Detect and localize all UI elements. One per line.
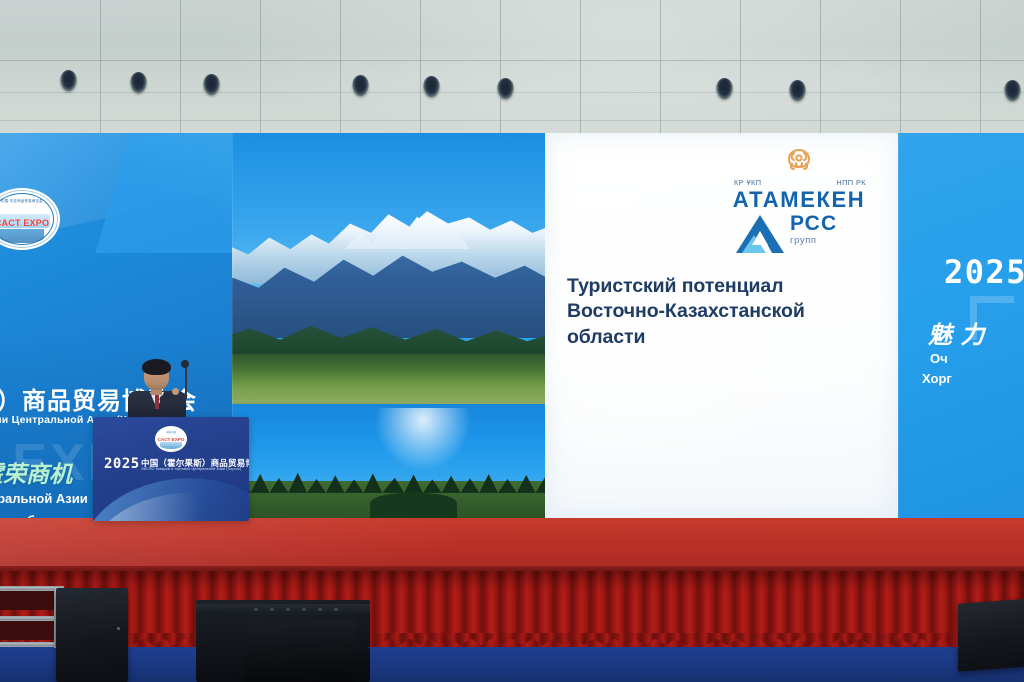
rcc-grupp-logo: РСС групп: [734, 211, 856, 255]
ceiling-light-5: [716, 78, 733, 100]
led-right-banner: 2025 魅 力 Оч Хорг: [898, 133, 1024, 520]
rcc-subtitle: групп: [790, 235, 837, 246]
rcc-triangle-icon: [734, 213, 786, 253]
ceiling-seam-v7: [580, 0, 581, 133]
speaker-indicator-icon: [117, 627, 120, 630]
logo-handshake-shape: [0, 229, 44, 243]
photo-lake-reflection: [376, 408, 470, 470]
logo-wordmark: CACT EXPO: [0, 218, 58, 228]
photo-meadow-shadow: [232, 354, 545, 389]
ceiling: [0, 0, 1024, 133]
ceiling-seam-v8: [660, 0, 661, 133]
led-panel-seam-2: [545, 133, 546, 520]
microphone-stand: [185, 365, 187, 399]
step-riser-2: [0, 620, 62, 640]
led-landscape-photo: [232, 133, 545, 520]
stage-deck-sheen: [0, 518, 1024, 570]
microphone-icon: [181, 360, 189, 368]
led-panel-seam-3: [898, 133, 899, 520]
stage-skirt: [0, 571, 1024, 647]
rail-dot-6: [334, 608, 338, 611]
rail-dot-3: [286, 608, 290, 611]
hall-floor: [0, 647, 1024, 682]
step-riser-1: [0, 590, 62, 610]
right-banner-calligraphy: 魅 力: [928, 315, 984, 350]
pa-speaker-left: [56, 588, 128, 682]
ceiling-light-9: [352, 75, 369, 97]
ceiling-seam-v5: [420, 0, 421, 133]
presenter: [128, 361, 186, 423]
ceiling-seam-v6: [500, 0, 501, 133]
presenter-hand: [172, 388, 179, 395]
rail-dot-5: [318, 608, 322, 611]
atameken-ru-abbr: НПП РК: [836, 178, 866, 187]
left-banner-calligraphy: · 霍荣商机: [0, 455, 72, 489]
podium-logo-band: [160, 442, 182, 449]
ceiling-light-4: [497, 78, 514, 100]
atameken-ornament-icon: [782, 147, 816, 177]
left-banner-russian-line-1: Центральной Азии: [0, 491, 88, 506]
ceiling-seam-h1: [0, 60, 1024, 61]
rcc-name: РСС: [790, 213, 837, 234]
ceiling-seam-v11: [900, 0, 901, 133]
ceiling-seam-v3: [260, 0, 261, 133]
ceiling-light-6: [789, 80, 806, 102]
podium: 中国·中亚 CACT EXPO 2025 中国（霍尔果斯）商品贸易博览会 ЭКС…: [93, 417, 249, 521]
rail-dot-2: [270, 608, 274, 611]
conference-stage-scene: 中国·中亚商品贸易博览会 CACT EXPO 尔果斯）商品贸易博览会 а и т…: [0, 0, 1024, 682]
ceiling-light-1: [130, 72, 147, 94]
pa-speaker-right: [958, 596, 1024, 671]
podium-year: 2025: [104, 456, 140, 472]
atameken-kz-abbr: КР ҰКП: [734, 178, 761, 187]
ceiling-seam-v12: [980, 0, 981, 133]
right-banner-russian-line-2: Хорг: [922, 371, 952, 386]
ceiling-seam-v10: [820, 0, 821, 133]
stage-skirt-scallop: [0, 633, 1024, 647]
podium-logo-arc: 中国·中亚: [156, 430, 186, 434]
ceiling-seam-v1: [100, 0, 101, 133]
ceiling-light-2: [203, 74, 220, 96]
stage-deck: [0, 518, 1024, 570]
rcc-text-block: РСС групп: [790, 213, 837, 246]
rail-dot-4: [302, 608, 306, 611]
atameken-logo: КР ҰКП НПП РК АТАМЕКЕН: [718, 147, 880, 211]
ceiling-seam-v4: [340, 0, 341, 133]
presentation-slide: КР ҰКП НПП РК АТАМЕКЕН РСС групп: [545, 133, 898, 520]
ceiling-sheen: [0, 0, 1024, 133]
right-banner-russian-line-1: Оч: [930, 351, 948, 366]
slide-title: Туристский потенциал Восточно-Казахстанс…: [567, 274, 882, 350]
monitor-top-rail: [196, 604, 370, 614]
ceiling-seam-h3: [0, 120, 1024, 121]
photo-foreground-island: [370, 493, 458, 520]
atameken-abbr-row: КР ҰКП НПП РК: [718, 178, 880, 189]
right-banner-year: 2025: [944, 253, 1024, 291]
podium-russian-text: ЭКСПО товаров и торговли Центральной Ази…: [141, 467, 241, 471]
ceiling-seam-v9: [740, 0, 741, 133]
presenter-hair: [142, 359, 171, 375]
atameken-wordmark: АТАМЕКЕН: [718, 188, 880, 211]
monitor-dust-cover: [245, 620, 357, 682]
podium-expo-logo: 中国·中亚 CACT EXPO: [155, 426, 187, 452]
logo-arc-text: 中国·中亚商品贸易博览会: [0, 199, 50, 213]
rail-dot-1: [254, 608, 258, 611]
ceiling-light-7: [1004, 80, 1021, 102]
ceiling-light-8: [60, 70, 77, 92]
ceiling-light-3: [423, 76, 440, 98]
ceiling-seam-v2: [180, 0, 181, 133]
